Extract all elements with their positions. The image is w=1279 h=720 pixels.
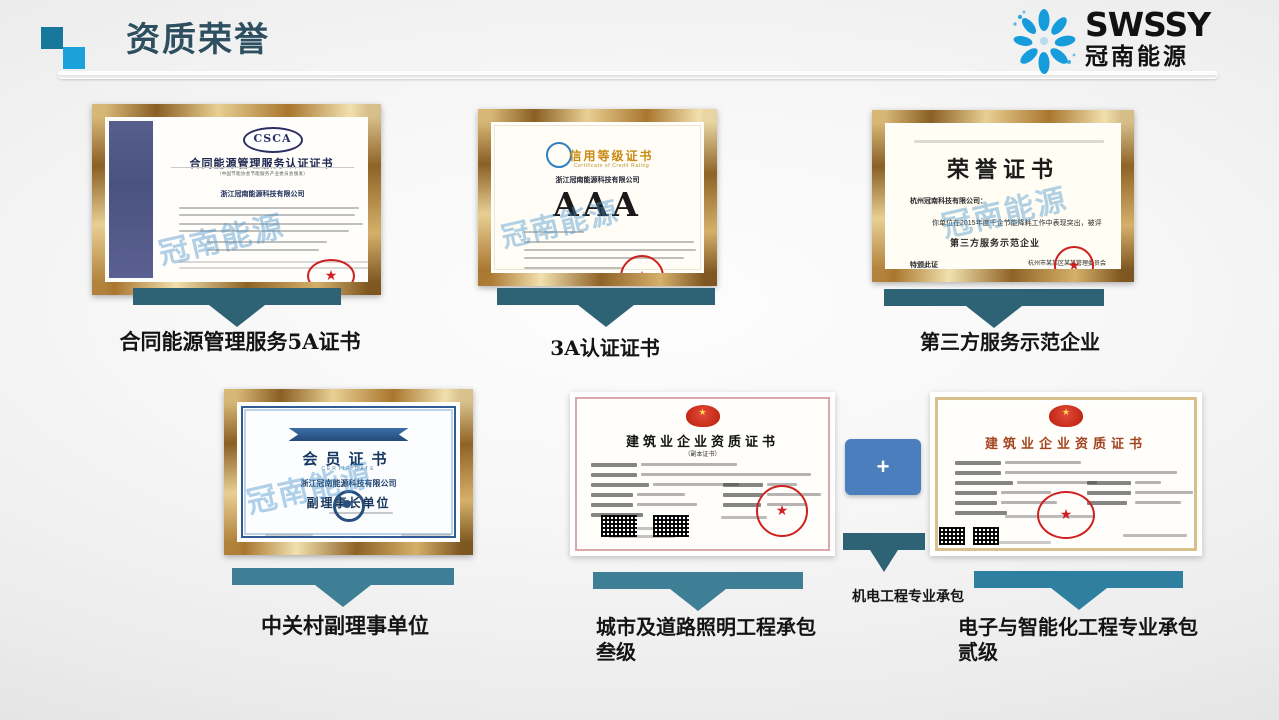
cert6-paper: 建筑业企业资质证书 bbox=[935, 397, 1197, 551]
cert6-title: 建筑业企业资质证书 bbox=[935, 433, 1197, 452]
cert2-org: 浙江冠南能源科技有限公司 bbox=[494, 175, 701, 185]
certificate-image-contract-energy-5a[interactable]: CSCA 合同能源管理服务认证证书 （中国节能协会节能服务产业委员会颁发） 浙江… bbox=[92, 104, 381, 295]
cert5-field-label-right bbox=[723, 483, 763, 487]
cert4-inner: 会员证书 CERTIFICATE 浙江冠南能源科技有限公司 副理事长单位 冠南能… bbox=[237, 402, 460, 542]
arrow-tip bbox=[578, 305, 634, 327]
cert6-field-label bbox=[955, 481, 1013, 485]
page-title: 资质荣誉 bbox=[126, 16, 270, 64]
cert6-field-value bbox=[1017, 481, 1097, 484]
arrow-tip bbox=[966, 306, 1022, 328]
cert6-field-label bbox=[955, 491, 997, 495]
arrow-down-cert5 bbox=[593, 572, 803, 611]
add-plus-button[interactable]: + bbox=[845, 439, 921, 495]
cert5-field-value bbox=[641, 463, 737, 466]
cert2-text-line bbox=[524, 267, 624, 269]
company-logo: SWSSY 冠南能源 bbox=[1009, 6, 1267, 78]
arrow-down-cert3 bbox=[884, 289, 1104, 328]
arrow-down-cert4 bbox=[232, 568, 454, 607]
caption-cert2: 3A认证证书 bbox=[475, 336, 735, 361]
slide-header: 资质荣誉 bbox=[0, 0, 1279, 90]
cert5-field-label bbox=[591, 493, 633, 497]
cert6-field-label-right bbox=[1087, 481, 1131, 485]
cert5-paper: 建筑业企业资质证书 （副本证书） bbox=[575, 397, 830, 551]
qr-code-icon bbox=[653, 515, 689, 537]
cert5-field-value bbox=[637, 493, 685, 496]
cert6-field-value bbox=[1005, 471, 1177, 474]
cert5-field-label bbox=[591, 473, 637, 477]
cert3-body: 你单位在2015年度千企节能降耗工作中表现突出，被评 bbox=[932, 218, 1102, 228]
cert1-text-line bbox=[179, 214, 355, 216]
cert6-field-label bbox=[955, 461, 1001, 465]
cert6-field-value-right bbox=[1135, 491, 1193, 494]
cert6-red-seal-icon bbox=[1037, 491, 1095, 539]
arrow-down-cert2 bbox=[497, 288, 715, 327]
cert5-field-label-right bbox=[723, 493, 763, 497]
cert2-title-en: Certificate of Credit Rating bbox=[494, 163, 701, 169]
cert6-field-value bbox=[1001, 491, 1051, 494]
cert1-text-line bbox=[179, 223, 363, 225]
cert1-inner: CSCA 合同能源管理服务认证证书 （中国节能协会节能服务产业委员会颁发） 浙江… bbox=[105, 117, 368, 282]
cert3-paper: 荣誉证书 杭州冠南科技有限公司： 你单位在2015年度千企节能降耗工作中表现突出… bbox=[888, 126, 1118, 266]
caption-cert4: 中关村副理事单位 bbox=[205, 613, 485, 639]
arrow-down-extra bbox=[843, 533, 925, 572]
cert1-text-line bbox=[207, 249, 319, 251]
cert3-note: 特颁此证 bbox=[910, 260, 938, 269]
csca-seal-icon: CSCA bbox=[243, 127, 303, 153]
arrow-tip bbox=[209, 305, 265, 327]
arrow-down-cert6 bbox=[974, 571, 1183, 610]
arrow-bar bbox=[884, 289, 1104, 306]
cert6-field-value bbox=[1005, 461, 1081, 464]
cert4-emblem-icon bbox=[333, 490, 365, 522]
cert2-text-line bbox=[524, 249, 696, 251]
cert1-paper: CSCA 合同能源管理服务认证证书 （中国节能协会节能服务产业委员会颁发） 浙江… bbox=[155, 119, 366, 280]
cert2-paper: 信用等级证书 Certificate of Credit Rating 浙江冠南… bbox=[494, 125, 701, 270]
caption-extra: 机电工程专业承包 bbox=[818, 589, 998, 607]
cert1-side-strip bbox=[109, 121, 153, 278]
certificate-image-honor-third-party[interactable]: 荣誉证书 杭州冠南科技有限公司： 你单位在2015年度千企节能降耗工作中表现突出… bbox=[872, 110, 1134, 282]
cert5-title: 建筑业企业资质证书 bbox=[575, 431, 830, 450]
square-light-icon bbox=[63, 47, 85, 69]
cert6-field-value-right bbox=[1135, 481, 1161, 484]
cert2-text-line bbox=[524, 241, 694, 243]
cert3-inner: 荣誉证书 杭州冠南科技有限公司： 你单位在2015年度千企节能降耗工作中表现突出… bbox=[885, 123, 1121, 269]
cert6-issue-date bbox=[1123, 534, 1187, 537]
arrow-bar bbox=[497, 288, 715, 305]
cert4-paper: 会员证书 CERTIFICATE 浙江冠南能源科技有限公司 副理事长单位 冠南能… bbox=[241, 406, 456, 538]
arrow-bar bbox=[232, 568, 454, 585]
cert3-red-seal-icon bbox=[1054, 246, 1094, 269]
cert5-issue-date bbox=[721, 516, 767, 519]
cert6-field-label bbox=[955, 511, 1007, 515]
certificate-image-credit-rating-aaa[interactable]: 信用等级证书 Certificate of Credit Rating 浙江冠南… bbox=[478, 109, 717, 286]
logo-chinese-name: 冠南能源 bbox=[1085, 43, 1267, 71]
cert3-title: 荣誉证书 bbox=[888, 152, 1118, 184]
cert5-field-label bbox=[591, 503, 633, 507]
cert3-award: 第三方服务示范企业 bbox=[950, 236, 1040, 249]
cert4-org: 浙江冠南能源科技有限公司 bbox=[241, 478, 456, 489]
cert5-field-label bbox=[591, 463, 637, 467]
cert2-text-line bbox=[524, 231, 584, 233]
cert6-field-value-right bbox=[1135, 501, 1181, 504]
logo-wordmark: SWSSY bbox=[1085, 7, 1267, 43]
cert3-org: 杭州冠南科技有限公司： bbox=[910, 196, 987, 206]
cert4-signature-line bbox=[401, 534, 451, 536]
square-dark-icon bbox=[41, 27, 63, 49]
caption-cert5: 城市及道路照明工程承包叁级 bbox=[596, 615, 826, 665]
qr-code-icon bbox=[939, 527, 965, 545]
certificate-image-member-zhongguancun[interactable]: 会员证书 CERTIFICATE 浙江冠南能源科技有限公司 副理事长单位 冠南能… bbox=[224, 389, 473, 555]
cert6-field-label bbox=[955, 471, 1001, 475]
cert1-rule bbox=[171, 167, 354, 168]
arrow-bar bbox=[593, 572, 803, 589]
national-emblem-icon bbox=[1049, 405, 1083, 427]
cert1-org: 浙江冠南能源科技有限公司 bbox=[169, 189, 356, 199]
cert2-inner: 信用等级证书 Certificate of Credit Rating 浙江冠南… bbox=[491, 122, 704, 273]
arrow-tip bbox=[315, 585, 371, 607]
arrow-bar bbox=[843, 533, 925, 550]
caption-cert3: 第三方服务示范企业 bbox=[860, 330, 1160, 355]
cert5-field-value bbox=[637, 503, 697, 506]
cert4-text-line bbox=[265, 534, 313, 536]
certificate-image-construction-qualification-electronics[interactable]: 建筑业企业资质证书 bbox=[930, 392, 1202, 556]
national-emblem-icon bbox=[686, 405, 720, 427]
cert2-title: 信用等级证书 bbox=[494, 147, 701, 164]
cert4-ribbon-decoration bbox=[289, 428, 409, 441]
certificate-image-construction-qualification-lighting[interactable]: 建筑业企业资质证书 （副本证书） bbox=[570, 392, 835, 556]
cert2-grade: AAA bbox=[494, 185, 701, 224]
arrow-bar bbox=[974, 571, 1183, 588]
cert3-ornament bbox=[914, 140, 1104, 143]
cert5-field-label bbox=[591, 483, 649, 487]
header-squares-decoration bbox=[41, 27, 103, 69]
qr-code-icon bbox=[601, 515, 637, 537]
arrow-down-cert1 bbox=[133, 288, 341, 327]
flower-petal-logo-icon bbox=[1009, 8, 1079, 74]
cert5-red-seal-icon bbox=[756, 485, 808, 537]
cert1-text-line bbox=[179, 207, 359, 209]
logo-text-block: SWSSY 冠南能源 bbox=[1085, 7, 1267, 71]
cert2-text-line bbox=[524, 257, 684, 259]
qr-code-icon bbox=[973, 527, 999, 545]
arrow-bar bbox=[133, 288, 341, 305]
caption-cert1: 合同能源管理服务5A证书 bbox=[70, 329, 410, 355]
cert6-field-label-right bbox=[1087, 491, 1131, 495]
cert4-title-en: CERTIFICATE bbox=[241, 466, 456, 472]
cert6-field-label-right bbox=[1087, 501, 1127, 505]
arrow-tip bbox=[670, 589, 726, 611]
cert1-subtitle: （中国节能协会节能服务产业委员会颁发） bbox=[169, 171, 356, 177]
cert5-subtitle: （副本证书） bbox=[575, 449, 830, 458]
cert1-text-line bbox=[207, 241, 327, 243]
slide-canvas: 资质荣誉 bbox=[0, 0, 1279, 720]
caption-cert6: 电子与智能化工程专业承包贰级 bbox=[958, 615, 1198, 665]
cert6-field-label bbox=[955, 501, 997, 505]
cert5-field-value bbox=[641, 473, 811, 476]
cert1-text-line bbox=[179, 230, 349, 232]
arrow-tip bbox=[870, 550, 898, 572]
cert1-title: 合同能源管理服务认证证书 bbox=[163, 155, 360, 171]
arrow-tip bbox=[1051, 588, 1107, 610]
